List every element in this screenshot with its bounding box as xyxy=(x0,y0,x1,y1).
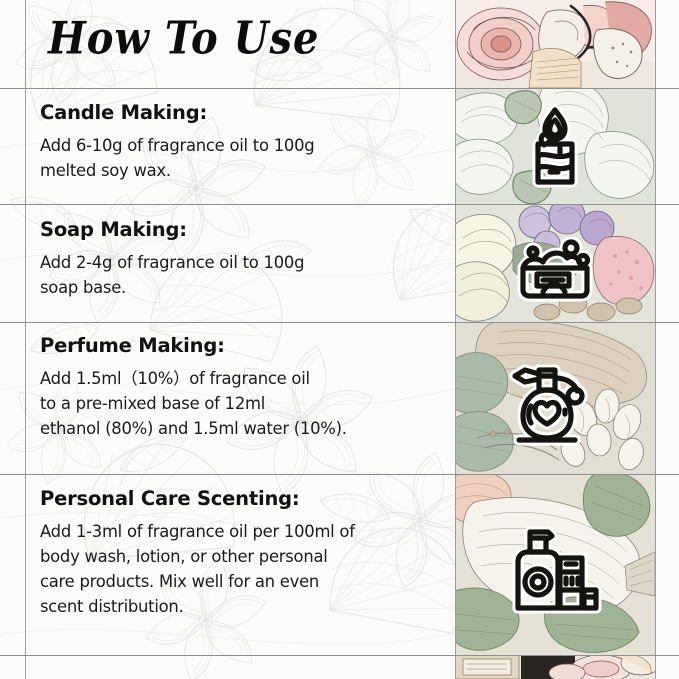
section-body: Add 1.5ml（10%）of fragrance oil to a pre-… xyxy=(40,366,440,441)
section-body: Add 1-3ml of fragrance oil per 100ml of … xyxy=(40,519,440,619)
left-rule xyxy=(25,0,26,679)
body-line: melted soy wax. xyxy=(40,158,440,183)
page-title: How To Use xyxy=(48,12,319,65)
right-margin-fade xyxy=(655,0,679,679)
body-line: Add 1.5ml（10%）of fragrance oil xyxy=(40,366,440,391)
section-soap-making: Soap Making: Add 2-4g of fragrance oil t… xyxy=(40,218,440,300)
body-line: soap base. xyxy=(40,275,440,300)
body-line: scent distribution. xyxy=(40,594,440,619)
body-line: body wash, lotion, or other personal xyxy=(40,544,440,569)
perfume-bottle-icon xyxy=(455,360,655,446)
body-care-products-icon xyxy=(455,524,655,620)
body-line: Add 2-4g of fragrance oil to 100g xyxy=(40,250,440,275)
body-line: ethanol (80%) and 1.5ml water (10%). xyxy=(40,416,440,441)
divider-title xyxy=(0,88,679,89)
rose-still-life-photo xyxy=(455,655,655,679)
body-line: to a pre-mixed base of 12ml xyxy=(40,391,440,416)
how-to-use-card: How To Use Candle Making: Add 6-10g of f… xyxy=(0,0,679,679)
body-line: Add 1-3ml of fragrance oil per 100ml of xyxy=(40,519,440,544)
body-line: care products. Mix well for an even xyxy=(40,569,440,594)
candle-icon xyxy=(455,104,655,188)
section-candle-making: Candle Making: Add 6-10g of fragrance oi… xyxy=(40,101,440,183)
section-heading: Candle Making: xyxy=(40,101,440,124)
section-heading: Personal Care Scenting: xyxy=(40,487,440,510)
section-personal-care-scenting: Personal Care Scenting: Add 1-3ml of fra… xyxy=(40,487,440,619)
rose-and-ribbon-photo xyxy=(455,0,655,88)
section-body: Add 6-10g of fragrance oil to 100g melte… xyxy=(40,133,440,183)
section-body: Add 2-4g of fragrance oil to 100g soap b… xyxy=(40,250,440,300)
divider-soap xyxy=(0,322,679,323)
section-heading: Perfume Making: xyxy=(40,334,440,357)
section-perfume-making: Perfume Making: Add 1.5ml（10%）of fragran… xyxy=(40,334,440,441)
divider-candle xyxy=(0,204,679,205)
section-heading: Soap Making: xyxy=(40,218,440,241)
divider-personal-care xyxy=(0,655,679,656)
body-line: Add 6-10g of fragrance oil to 100g xyxy=(40,133,440,158)
divider-perfume xyxy=(0,474,679,475)
soap-bar-icon xyxy=(455,224,655,304)
strip-right-rule xyxy=(655,0,656,679)
